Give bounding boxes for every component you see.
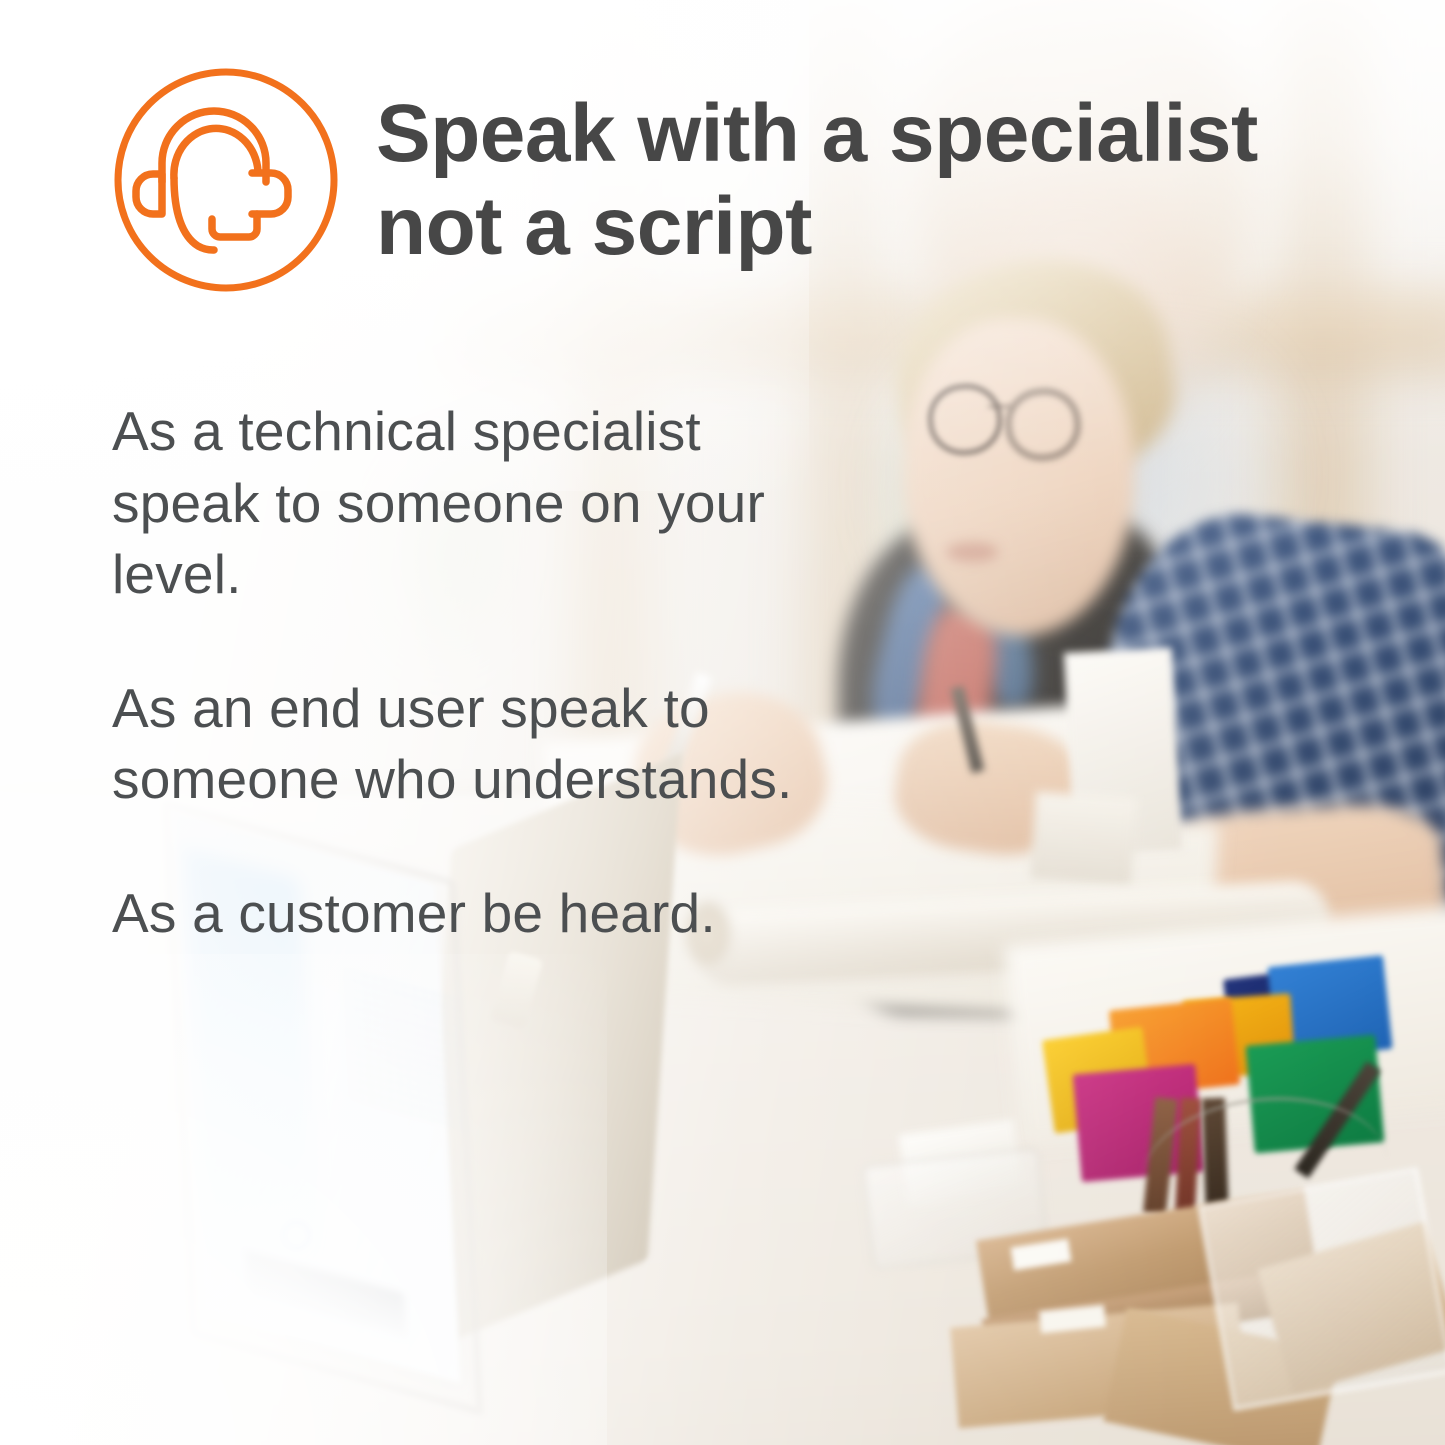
content-layer: Speak with a specialist not a script As … xyxy=(0,0,1445,1445)
body-paragraph-1: As a technical specialist speak to someo… xyxy=(112,396,832,611)
headline-line-2: not a script xyxy=(376,181,1376,274)
promo-graphic: Speak with a specialist not a script As … xyxy=(0,0,1445,1445)
body-copy: As a technical specialist speak to someo… xyxy=(112,396,832,949)
page-title: Speak with a specialist not a script xyxy=(376,88,1376,273)
headline-line-1: Speak with a specialist xyxy=(376,88,1376,181)
body-paragraph-2: As an end user speak to someone who unde… xyxy=(112,673,832,816)
body-paragraph-3: As a customer be heard. xyxy=(112,878,832,950)
headset-support-icon xyxy=(112,66,340,294)
